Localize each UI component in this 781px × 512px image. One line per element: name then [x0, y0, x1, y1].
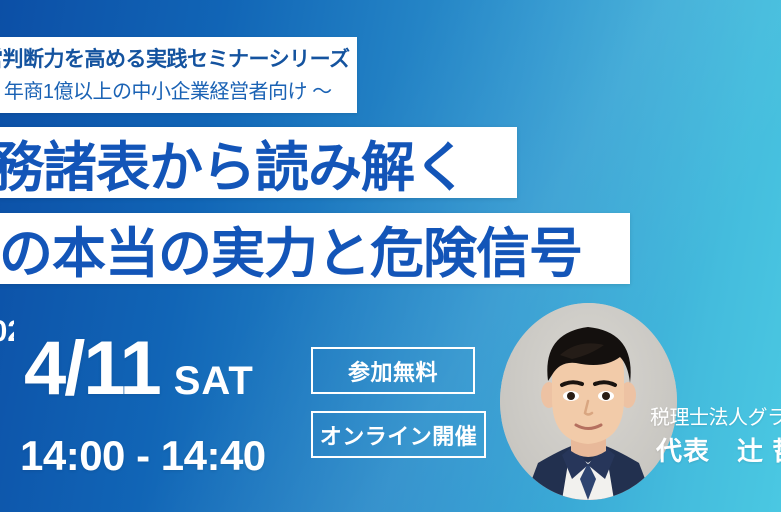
title-plate-line2: 自社の本当の実力と危険信号: [0, 213, 630, 284]
title-line1: 財務諸表から読み解く: [0, 123, 467, 202]
badge-free-participation: 参加無料: [311, 347, 475, 394]
speaker-company: 税理士法人グラン: [650, 404, 781, 432]
event-date: 4/11: [24, 331, 160, 407]
event-day-of-week: SAT: [174, 359, 254, 404]
header-plate: 経営判断力を高める実践セミナーシリーズ 〜 年商1億以上の中小企業経営者向け 〜: [0, 37, 357, 113]
speaker-name: 代表 辻 哲弥: [650, 434, 781, 468]
event-date-row: 4/11 SAT: [24, 331, 254, 407]
speaker-info: 税理士法人グラン 代表 辻 哲弥: [650, 404, 781, 468]
event-year-clipped: 2025: [0, 318, 14, 430]
event-time: 14:00 - 14:40: [20, 432, 266, 480]
title-line2: 自社の本当の実力と危険信号: [0, 209, 582, 288]
title-plate-line1: 財務諸表から読み解く: [0, 127, 517, 198]
badge-online-event: オンライン開催: [311, 411, 486, 458]
header-series-title: 経営判断力を高める実践セミナーシリーズ: [0, 43, 357, 73]
speaker-portrait: [500, 303, 677, 500]
seminar-banner: 経営判断力を高める実践セミナーシリーズ 〜 年商1億以上の中小企業経営者向け 〜…: [0, 0, 781, 512]
portrait-illustration: [500, 303, 677, 500]
header-target-audience: 〜 年商1億以上の中小企業経営者向け 〜: [0, 75, 357, 104]
